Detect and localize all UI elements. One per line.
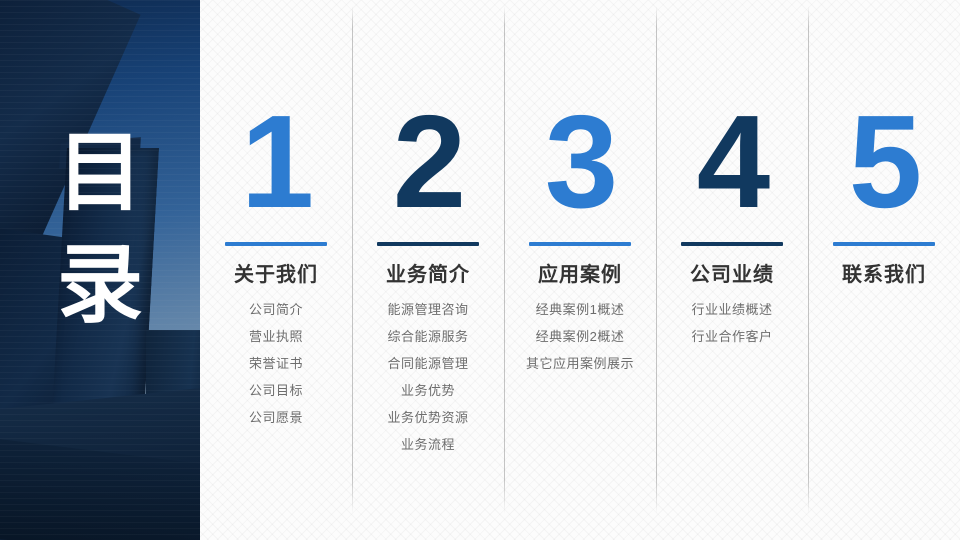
agenda-heading-2[interactable]: 业务简介 <box>386 258 470 287</box>
agenda-divider-bar-5 <box>833 242 935 246</box>
agenda-heading-3[interactable]: 应用案例 <box>538 258 622 287</box>
list-item[interactable]: 经典案例1概述 <box>536 303 625 316</box>
list-item[interactable]: 其它应用案例展示 <box>526 357 634 370</box>
agenda-column-1[interactable]: 1 关于我们 公司简介 营业执照 荣誉证书 公司目标 公司愿景 <box>200 0 352 540</box>
agenda-number-4: 4 <box>697 96 767 228</box>
page-title-char-1: 目 <box>44 130 156 216</box>
list-item[interactable]: 荣誉证书 <box>249 357 303 370</box>
agenda-heading-1[interactable]: 关于我们 <box>234 258 318 287</box>
list-item[interactable]: 公司愿景 <box>249 411 303 424</box>
agenda-divider-bar-4 <box>681 242 783 246</box>
list-item[interactable]: 业务流程 <box>401 438 455 451</box>
agenda-number-1: 1 <box>241 96 311 228</box>
list-item[interactable]: 业务优势 <box>401 384 455 397</box>
list-item[interactable]: 公司简介 <box>249 303 303 316</box>
skyscraper-photo: 目 录 <box>0 0 200 540</box>
page-title-char-2: 录 <box>44 242 156 328</box>
list-item[interactable]: 营业执照 <box>249 330 303 343</box>
agenda-columns: 1 关于我们 公司简介 营业执照 荣誉证书 公司目标 公司愿景 2 业务简介 能… <box>200 0 960 540</box>
agenda-item-list-3: 经典案例1概述 经典案例2概述 其它应用案例展示 <box>526 303 634 384</box>
agenda-column-5[interactable]: 5 联系我们 <box>808 0 960 540</box>
agenda-divider-bar-1 <box>225 242 327 246</box>
list-item[interactable]: 公司目标 <box>249 384 303 397</box>
agenda-number-3: 3 <box>545 96 615 228</box>
list-item[interactable]: 综合能源服务 <box>387 330 468 343</box>
list-item[interactable]: 经典案例2概述 <box>536 330 625 343</box>
agenda-heading-5[interactable]: 联系我们 <box>842 258 926 287</box>
agenda-number-2: 2 <box>393 96 463 228</box>
list-item[interactable]: 行业业绩概述 <box>691 303 772 316</box>
list-item[interactable]: 合同能源管理 <box>387 357 468 370</box>
agenda-heading-4[interactable]: 公司业绩 <box>690 258 774 287</box>
agenda-column-3[interactable]: 3 应用案例 经典案例1概述 经典案例2概述 其它应用案例展示 <box>504 0 656 540</box>
agenda-item-list-1: 公司简介 营业执照 荣誉证书 公司目标 公司愿景 <box>249 303 303 438</box>
agenda-item-list-2: 能源管理咨询 综合能源服务 合同能源管理 业务优势 业务优势资源 业务流程 <box>387 303 468 465</box>
presentation-slide: 目 录 1 关于我们 公司简介 营业执照 荣誉证书 公司目标 公司愿景 2 业务… <box>0 0 960 540</box>
agenda-column-4[interactable]: 4 公司业绩 行业业绩概述 行业合作客户 <box>656 0 808 540</box>
list-item[interactable]: 能源管理咨询 <box>387 303 468 316</box>
agenda-column-2[interactable]: 2 业务简介 能源管理咨询 综合能源服务 合同能源管理 业务优势 业务优势资源 … <box>352 0 504 540</box>
agenda-divider-bar-3 <box>529 242 631 246</box>
list-item[interactable]: 业务优势资源 <box>387 411 468 424</box>
agenda-item-list-4: 行业业绩概述 行业合作客户 <box>691 303 772 357</box>
agenda-divider-bar-2 <box>377 242 479 246</box>
page-title: 目 录 <box>44 130 156 328</box>
agenda-number-5: 5 <box>849 96 919 228</box>
list-item[interactable]: 行业合作客户 <box>691 330 772 343</box>
